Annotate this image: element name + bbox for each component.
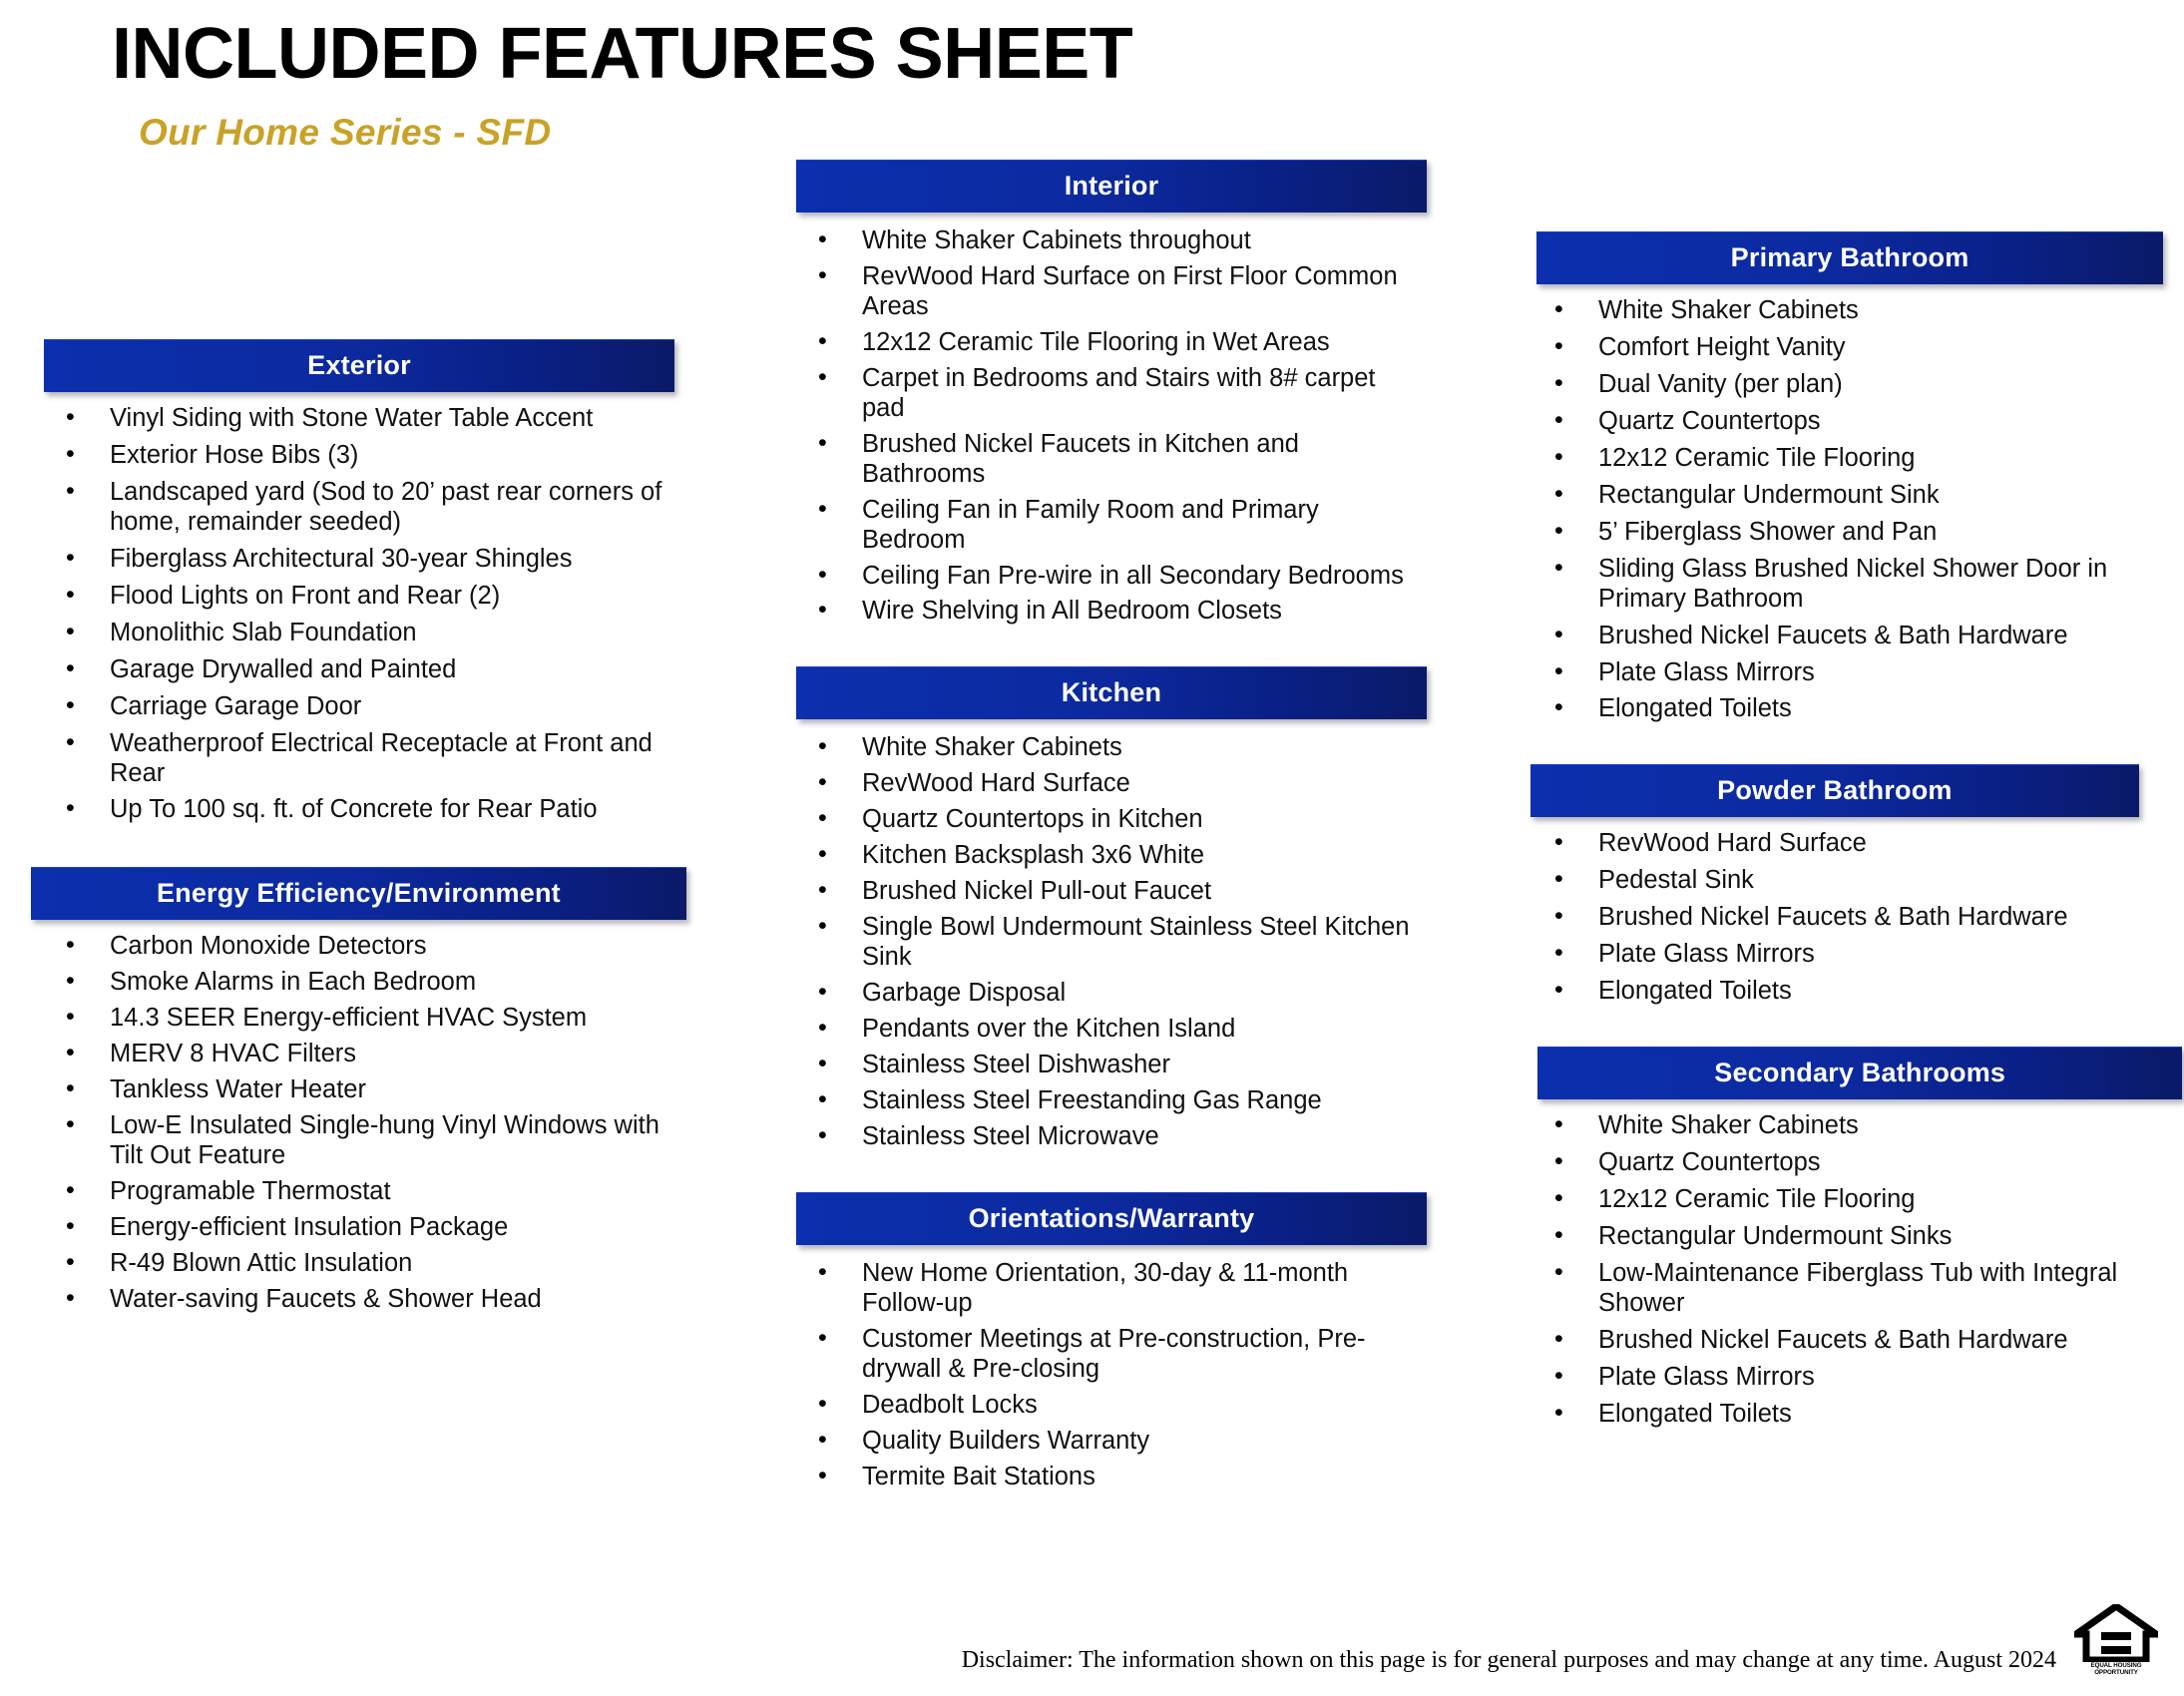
list-item: Brushed Nickel Pull-out Faucet (796, 877, 1415, 907)
list-item: Quality Builders Warranty (796, 1427, 1415, 1457)
list-item: Water-saving Faucets & Shower Head (44, 1285, 662, 1315)
feature-list-kitchen: White Shaker Cabinets RevWood Hard Surfa… (796, 733, 1415, 1151)
list-item: MERV 8 HVAC Filters (44, 1040, 662, 1069)
column-middle: Interior White Shaker Cabinets throughou… (796, 160, 1415, 1518)
list-item: Garage Drywalled and Painted (44, 655, 662, 685)
list-item: Brushed Nickel Faucets & Bath Hardware (1536, 903, 2145, 933)
page-subtitle: Our Home Series - SFD (139, 112, 1509, 154)
equal-housing-caption: EQUAL HOUSING OPPORTUNITY (2074, 1663, 2158, 1677)
section-header-exterior: Exterior (44, 339, 674, 392)
list-item: Plate Glass Mirrors (1536, 1363, 2145, 1393)
list-item: Sliding Glass Brushed Nickel Shower Door… (1536, 555, 2145, 615)
section-header-interior: Interior (796, 160, 1427, 212)
list-item: New Home Orientation, 30-day & 11-month … (796, 1259, 1415, 1319)
disclaimer-text: Disclaimer: The information shown on thi… (962, 1647, 2056, 1674)
equal-housing-line2: OPPORTUNITY (2094, 1669, 2138, 1676)
list-item: Customer Meetings at Pre-construction, P… (796, 1325, 1415, 1385)
list-item: Stainless Steel Dishwasher (796, 1051, 1415, 1080)
masthead: INCLUDED FEATURES SHEET Our Home Series … (112, 18, 1509, 154)
section-header-powder-bathroom: Powder Bathroom (1530, 764, 2139, 817)
list-item: 12x12 Ceramic Tile Flooring in Wet Areas (796, 328, 1415, 358)
list-item: Carpet in Bedrooms and Stairs with 8# ca… (796, 364, 1415, 424)
list-item: Brushed Nickel Faucets in Kitchen and Ba… (796, 430, 1415, 490)
list-item: Weatherproof Electrical Receptacle at Fr… (44, 729, 662, 789)
list-item: Termite Bait Stations (796, 1463, 1415, 1492)
section-kitchen: Kitchen White Shaker Cabinets RevWood Ha… (796, 666, 1415, 1151)
list-item: 12x12 Ceramic Tile Flooring (1536, 444, 2145, 474)
feature-list-primary-bathroom: White Shaker Cabinets Comfort Height Van… (1536, 296, 2145, 724)
list-item: Tankless Water Heater (44, 1075, 662, 1105)
list-item: Exterior Hose Bibs (3) (44, 441, 662, 471)
column-right: Primary Bathroom White Shaker Cabinets C… (1536, 231, 2145, 1456)
page-footer: Disclaimer: The information shown on thi… (0, 1596, 2184, 1682)
list-item: Ceiling Fan in Family Room and Primary B… (796, 496, 1415, 556)
list-item: Stainless Steel Freestanding Gas Range (796, 1086, 1415, 1116)
section-interior: Interior White Shaker Cabinets throughou… (796, 160, 1415, 627)
column-left: Exterior Vinyl Siding with Stone Water T… (44, 339, 662, 1341)
list-item: Rectangular Undermount Sink (1536, 481, 2145, 511)
section-secondary-bathrooms: Secondary Bathrooms White Shaker Cabinet… (1536, 1047, 2145, 1430)
section-exterior: Exterior Vinyl Siding with Stone Water T… (44, 339, 662, 825)
equal-housing-opportunity-logo: EQUAL HOUSING OPPORTUNITY (2074, 1604, 2158, 1678)
list-item: Comfort Height Vanity (1536, 333, 2145, 363)
feature-list-exterior: Vinyl Siding with Stone Water Table Acce… (44, 404, 662, 825)
section-header-orientations-warranty: Orientations/Warranty (796, 1192, 1427, 1245)
list-item: Programable Thermostat (44, 1177, 662, 1207)
section-header-secondary-bathrooms: Secondary Bathrooms (1537, 1047, 2182, 1099)
equal-housing-line1: EQUAL HOUSING (2091, 1662, 2142, 1669)
list-item: 5’ Fiberglass Shower and Pan (1536, 518, 2145, 548)
list-item: Low-E Insulated Single-hung Vinyl Window… (44, 1111, 662, 1171)
list-item: Energy-efficient Insulation Package (44, 1213, 662, 1243)
list-item: White Shaker Cabinets (1536, 1111, 2145, 1141)
list-item: Single Bowl Undermount Stainless Steel K… (796, 913, 1415, 973)
section-header-primary-bathroom: Primary Bathroom (1536, 231, 2163, 284)
list-item: Stainless Steel Microwave (796, 1122, 1415, 1152)
list-item: Low-Maintenance Fiberglass Tub with Inte… (1536, 1259, 2145, 1319)
section-header-kitchen: Kitchen (796, 666, 1427, 719)
list-item: Garbage Disposal (796, 979, 1415, 1009)
list-item: Dual Vanity (per plan) (1536, 370, 2145, 400)
list-item: Brushed Nickel Faucets & Bath Hardware (1536, 1326, 2145, 1356)
list-item: Plate Glass Mirrors (1536, 940, 2145, 970)
list-item: Quartz Countertops in Kitchen (796, 805, 1415, 835)
list-item: Up To 100 sq. ft. of Concrete for Rear P… (44, 795, 662, 825)
feature-list-orientations-warranty: New Home Orientation, 30-day & 11-month … (796, 1259, 1415, 1492)
list-item: White Shaker Cabinets (1536, 296, 2145, 326)
list-item: RevWood Hard Surface (796, 769, 1415, 799)
list-item: Pedestal Sink (1536, 866, 2145, 896)
list-item: Quartz Countertops (1536, 407, 2145, 437)
equal-housing-opportunity-icon (2074, 1604, 2158, 1662)
list-item: Elongated Toilets (1536, 977, 2145, 1007)
feature-list-secondary-bathrooms: White Shaker Cabinets Quartz Countertops… (1536, 1111, 2145, 1430)
list-item: R-49 Blown Attic Insulation (44, 1249, 662, 1279)
page-title: INCLUDED FEATURES SHEET (112, 18, 1509, 90)
list-item: Deadbolt Locks (796, 1391, 1415, 1421)
feature-list-powder-bathroom: RevWood Hard Surface Pedestal Sink Brush… (1536, 829, 2145, 1007)
list-item: Quartz Countertops (1536, 1148, 2145, 1178)
list-item: Rectangular Undermount Sinks (1536, 1222, 2145, 1252)
list-item: Smoke Alarms in Each Bedroom (44, 968, 662, 998)
list-item: Wire Shelving in All Bedroom Closets (796, 597, 1415, 627)
list-item: Kitchen Backsplash 3x6 White (796, 841, 1415, 871)
list-item: Carriage Garage Door (44, 692, 662, 722)
list-item: Elongated Toilets (1536, 1400, 2145, 1430)
feature-list-interior: White Shaker Cabinets throughout RevWood… (796, 226, 1415, 627)
list-item: Ceiling Fan Pre-wire in all Secondary Be… (796, 562, 1415, 592)
list-item: White Shaker Cabinets (796, 733, 1415, 763)
list-item: RevWood Hard Surface (1536, 829, 2145, 859)
list-item: White Shaker Cabinets throughout (796, 226, 1415, 256)
section-energy-efficiency: Energy Efficiency/Environment Carbon Mon… (44, 867, 662, 1314)
features-sheet-page: INCLUDED FEATURES SHEET Our Home Series … (0, 0, 2184, 1696)
list-item: 12x12 Ceramic Tile Flooring (1536, 1185, 2145, 1215)
list-item: RevWood Hard Surface on First Floor Comm… (796, 262, 1415, 322)
list-item: Flood Lights on Front and Rear (2) (44, 582, 662, 612)
feature-list-energy-efficiency: Carbon Monoxide Detectors Smoke Alarms i… (44, 932, 662, 1314)
list-item: Carbon Monoxide Detectors (44, 932, 662, 962)
list-item: Elongated Toilets (1536, 694, 2145, 724)
list-item: Pendants over the Kitchen Island (796, 1015, 1415, 1045)
list-item: Monolithic Slab Foundation (44, 619, 662, 648)
list-item: Landscaped yard (Sod to 20’ past rear co… (44, 478, 662, 538)
list-item: Vinyl Siding with Stone Water Table Acce… (44, 404, 662, 434)
list-item: Plate Glass Mirrors (1536, 658, 2145, 688)
section-powder-bathroom: Powder Bathroom RevWood Hard Surface Ped… (1536, 764, 2145, 1007)
section-header-energy-efficiency: Energy Efficiency/Environment (31, 867, 686, 920)
list-item: 14.3 SEER Energy-efficient HVAC System (44, 1004, 662, 1034)
list-item: Brushed Nickel Faucets & Bath Hardware (1536, 622, 2145, 651)
list-item: Fiberglass Architectural 30-year Shingle… (44, 545, 662, 575)
section-orientations-warranty: Orientations/Warranty New Home Orientati… (796, 1192, 1415, 1492)
section-primary-bathroom: Primary Bathroom White Shaker Cabinets C… (1536, 231, 2145, 724)
